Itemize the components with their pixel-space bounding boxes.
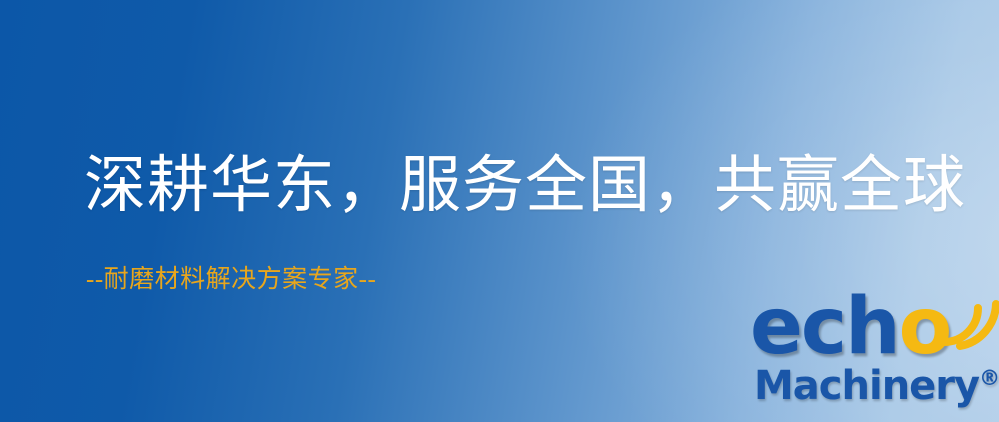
signal-arcs-icon xyxy=(930,292,999,352)
banner-subtitle: --耐磨材料解决方案专家-- xyxy=(86,266,376,294)
banner-headline: 深耕华东，服务全国，共赢全球 xyxy=(84,154,966,219)
logo-word-echo: echo xyxy=(750,288,950,366)
logo-word-prefix: ech xyxy=(750,282,899,372)
promo-banner: 深耕华东，服务全国，共赢全球 --耐磨材料解决方案专家-- echo Machi… xyxy=(0,0,999,422)
echo-machinery-logo[interactable]: echo Machinery® xyxy=(748,296,999,422)
logo-subtext-label: Machinery xyxy=(754,363,979,409)
registered-trademark-icon: ® xyxy=(979,366,999,390)
logo-subtext-machinery: Machinery® xyxy=(754,366,999,406)
